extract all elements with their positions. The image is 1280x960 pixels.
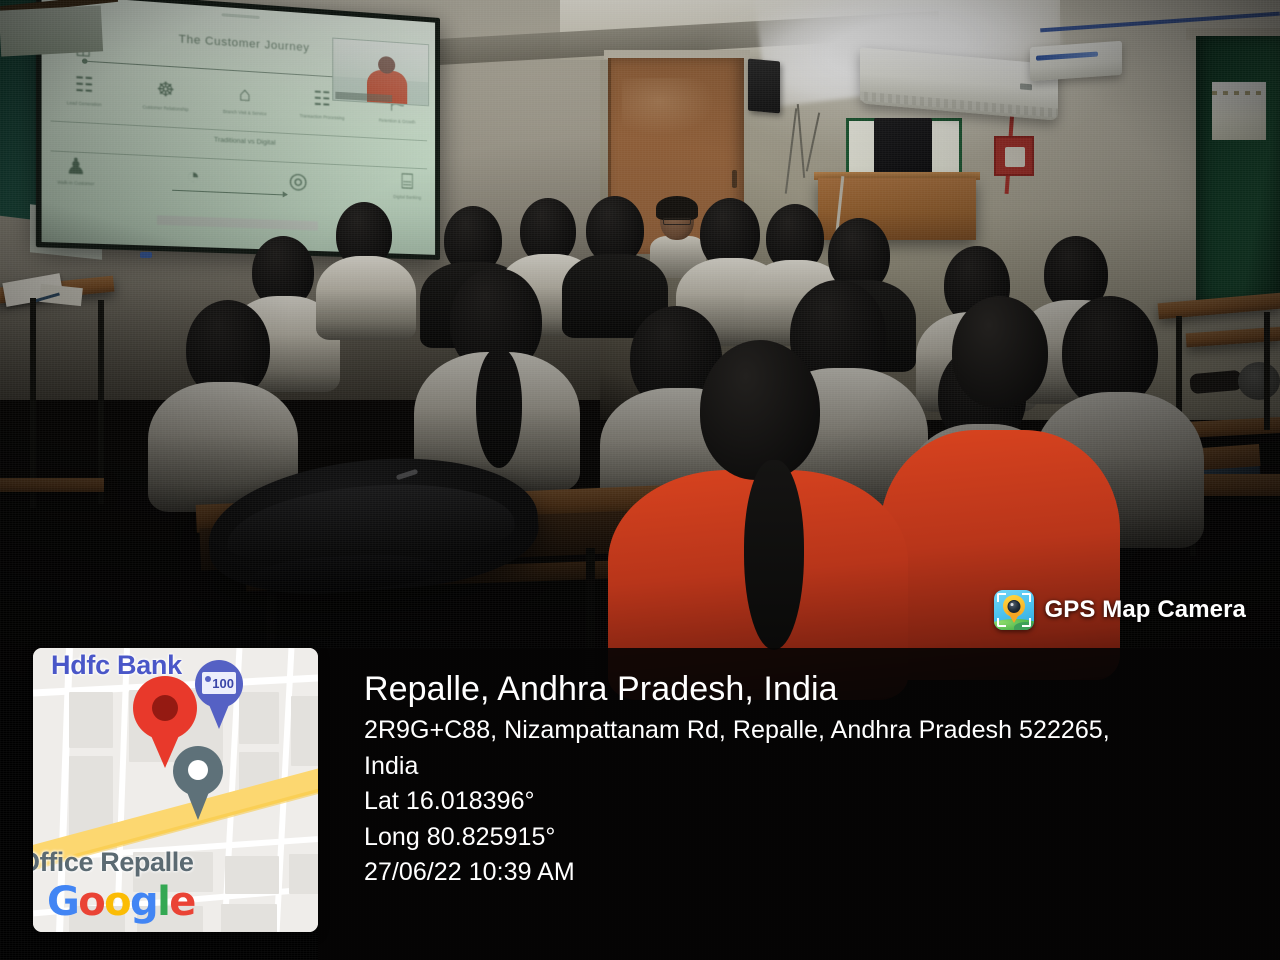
gps-map-camera-watermark: GPS Map Camera [994,590,1246,630]
door-handle [732,170,737,188]
ac-display [1020,83,1032,90]
google-logo-letter: e [169,879,195,925]
google-logo-letter: o [78,879,104,925]
viewfinder-bracket-icon [1022,618,1031,627]
secondary-location-pin[interactable] [173,746,223,796]
student-head [952,296,1048,408]
student-torso [316,256,416,340]
journey-step-1: ☷ Lead Generation [53,69,115,108]
viewfinder-bracket-icon [997,593,1006,602]
flow-step-4-caption: Digital Banking [393,194,421,200]
air-conditioner-secondary [1030,41,1122,81]
desk-leg [1264,312,1270,430]
primary-location-pin[interactable] [133,676,197,740]
viewfinder-bracket-icon [997,618,1006,627]
clock-icon: ◔ [186,165,200,188]
poi-pin-badge: 100 [202,672,236,694]
presenter-webcam-feed [332,38,429,107]
viewfinder-bracket-icon [1022,593,1031,602]
map-thumbnail[interactable]: Hdfc Bank 100 Office Repalle Google [33,648,318,932]
presenter-glasses [663,218,691,225]
flow-step-2: ◔ [186,165,200,188]
map-block [225,856,279,894]
gps-place-title: Repalle, Andhra Pradesh, India [364,670,1254,709]
monitor [874,118,932,180]
bench-seat-left [0,478,104,492]
poi-pin-badge-dot [205,676,211,682]
google-logo-letter: G [47,879,78,925]
google-logo: Google [47,882,195,922]
map-block [291,696,318,766]
poi-pin-badge-value: 100 [212,677,234,690]
calculator-icon: ☷ [53,69,115,100]
flow-step-3: ◎ [289,169,308,191]
journey-step-2: ☸ Customer Relationship [135,74,196,112]
green-door-window [1212,82,1266,140]
google-logo-letter: g [130,879,157,925]
secondary-location-pin-dot [188,760,208,780]
gps-map-camera-icon [994,590,1034,630]
google-logo-letter: l [157,879,169,925]
journey-step-5-caption: Retention & Growth [369,117,425,125]
gps-longitude: Long 80.825915° [364,820,1254,856]
presenter-hair [656,196,698,220]
camera-lens-icon [1007,600,1020,613]
journey-step-1-caption: Lead Generation [53,99,115,108]
desk-leg [98,300,104,504]
student-torso-red [880,430,1120,680]
journey-step-3-caption: Branch Visit & Service [215,108,274,117]
map-block [239,692,279,744]
gps-timestamp: 27/06/22 10:39 AM [364,855,1254,891]
green-exit-door [1196,36,1280,306]
map-block [69,692,113,748]
handshake-group-icon: ☸ [135,74,196,105]
journey-step-4-caption: Transaction Processing [293,113,351,122]
gps-text-block: Repalle, Andhra Pradesh, India 2R9G+C88,… [318,648,1280,891]
slide-top-marker [221,13,259,19]
mobile-payment-icon: ⌸ [393,171,421,193]
store-icon: ⌂ [215,79,274,109]
map-block [221,904,277,932]
webcam-person-head [378,56,395,74]
slide-progress-bar [157,215,318,230]
google-logo-letter: o [104,879,130,925]
gps-latitude: Lat 16.018396° [364,784,1254,820]
wall-speaker [748,59,780,114]
poi-pin-bank[interactable]: 100 [195,660,243,708]
desk-object [1238,362,1280,400]
journey-step-3: ⌂ Branch Visit & Service [215,79,274,117]
map-label-office: Office Repalle [33,847,193,878]
student-braid [476,348,522,468]
desk-leg [30,298,36,508]
gps-map-camera-label: GPS Map Camera [1045,596,1246,624]
desk-surface-right [0,5,103,56]
coin-icon: ◎ [289,169,308,191]
person-standing-icon: ♟ [57,155,94,179]
flow-step-1: ♟ Walk-in Customer [57,155,94,186]
gps-info-bar: Repalle, Andhra Pradesh, India 2R9G+C88,… [318,648,1280,960]
student-head-foreground [700,340,820,480]
journey-step-2-caption: Customer Relationship [135,104,196,113]
student-braid-foreground [744,460,804,650]
primary-location-pin-dot [152,695,178,721]
screen-clip [140,252,152,258]
gps-address-line-2: India [364,749,1254,785]
photo-canvas: The Customer Journey ◫ ☷ Lead Generation… [0,0,1280,960]
electrical-panel [994,136,1034,176]
flow-step-1-caption: Walk-in Customer [57,180,94,187]
gps-address-line-1: 2R9G+C88, Nizampattanam Rd, Repalle, And… [364,713,1254,749]
flow-step-4: ⌸ Digital Banking [393,171,421,200]
map-block [289,854,318,894]
